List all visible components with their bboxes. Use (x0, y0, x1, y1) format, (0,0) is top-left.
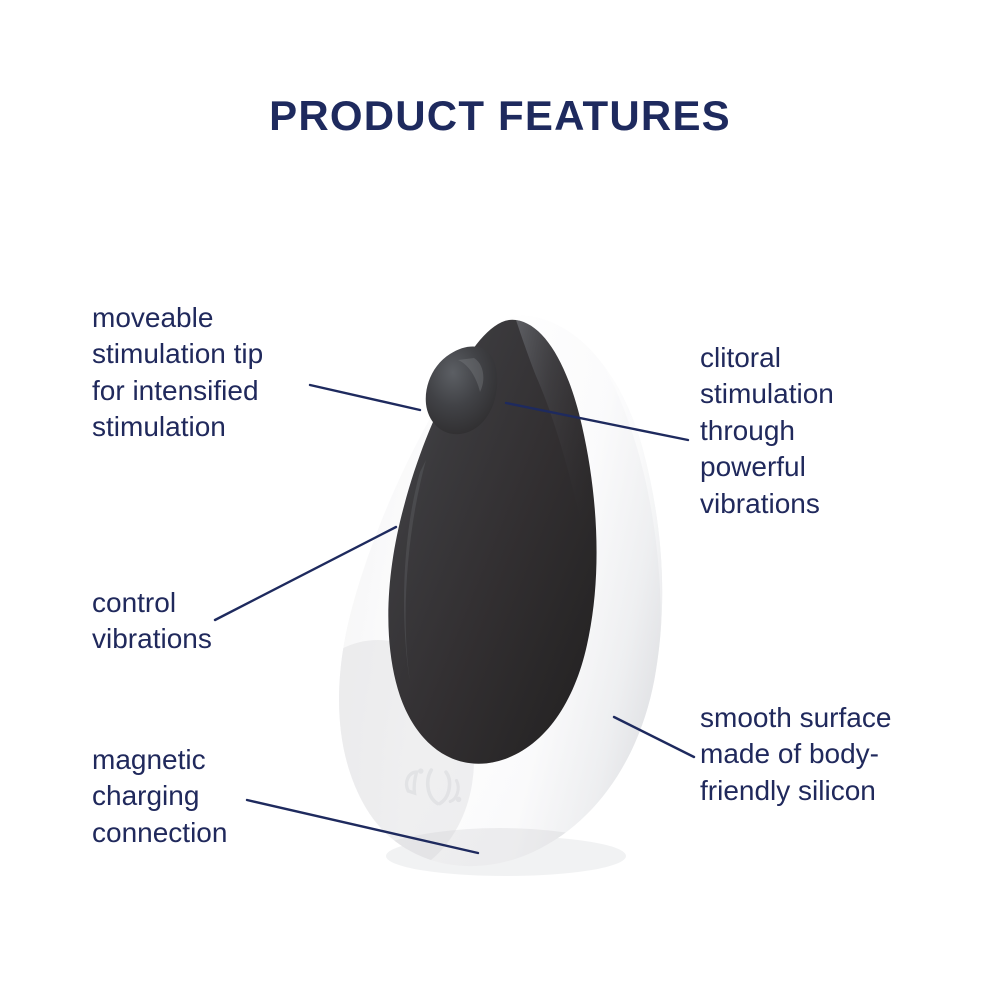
product-feature-diagram: PRODUCT FEATURES (0, 0, 1000, 1000)
page-title: PRODUCT FEATURES (0, 92, 1000, 140)
callout-clitoral-stimulation: clitoral stimulation through powerful vi… (700, 340, 960, 522)
product-svg (330, 290, 690, 890)
callout-smooth-surface: smooth surface made of body- friendly si… (700, 700, 950, 809)
callout-magnetic-charging: magnetic charging connection (92, 742, 342, 851)
callout-control-vibrations: control vibrations (92, 585, 332, 658)
product-illustration (330, 290, 690, 890)
callout-moveable-tip: moveable stimulation tip for intensified… (92, 300, 342, 446)
